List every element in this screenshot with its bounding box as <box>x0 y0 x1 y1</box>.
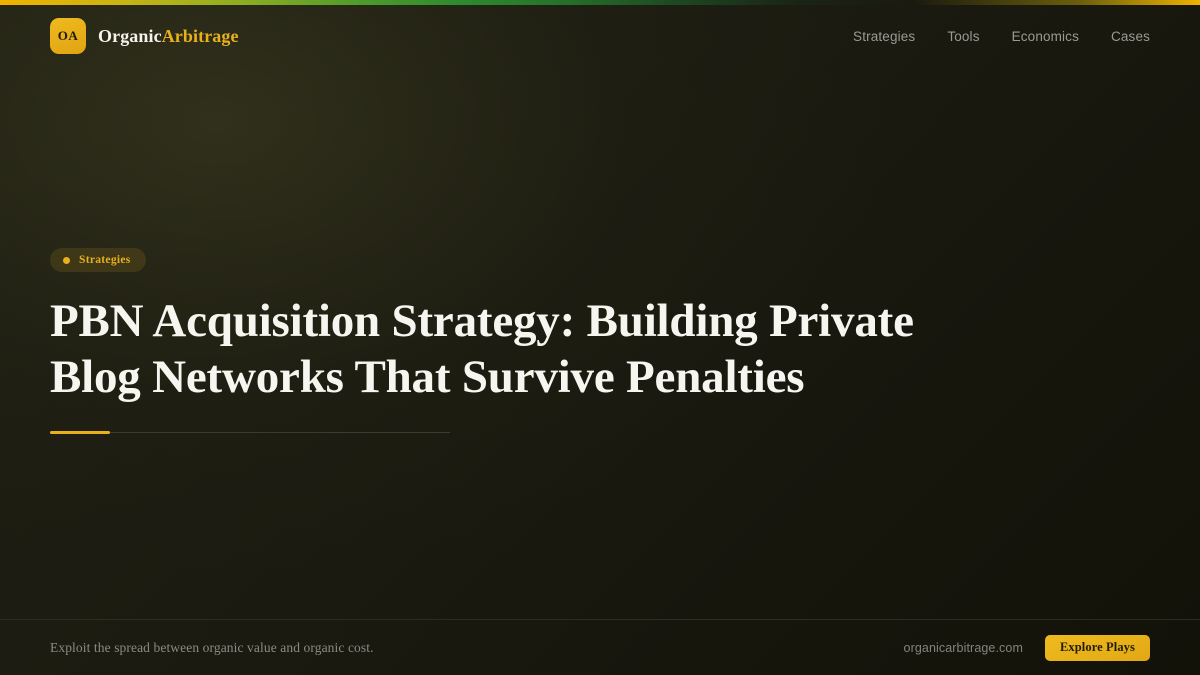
wordmark-primary: Organic <box>98 26 162 46</box>
footer-tagline: Exploit the spread between organic value… <box>50 640 374 656</box>
divider-line <box>50 432 450 433</box>
nav-item-economics[interactable]: Economics <box>1012 29 1079 44</box>
footer-url: organicarbitrage.com <box>904 641 1023 655</box>
title-divider <box>50 431 450 434</box>
divider-accent <box>50 431 110 434</box>
wordmark-accent: Arbitrage <box>162 26 239 46</box>
dot-icon <box>63 257 70 264</box>
nav-item-strategies[interactable]: Strategies <box>853 29 915 44</box>
brand-logo[interactable]: OA OrganicArbitrage <box>50 18 239 54</box>
nav-item-tools[interactable]: Tools <box>947 29 979 44</box>
main-nav: Strategies Tools Economics Cases <box>853 29 1150 44</box>
logo-badge-icon: OA <box>50 18 86 54</box>
category-badge-label: Strategies <box>79 254 131 266</box>
wordmark: OrganicArbitrage <box>98 26 239 47</box>
footer-actions: organicarbitrage.com Explore Plays <box>904 635 1150 661</box>
page-title: PBN Acquisition Strategy: Building Priva… <box>50 293 950 405</box>
explore-plays-button[interactable]: Explore Plays <box>1045 635 1150 661</box>
category-badge[interactable]: Strategies <box>50 248 146 272</box>
nav-item-cases[interactable]: Cases <box>1111 29 1150 44</box>
site-header: OA OrganicArbitrage Strategies Tools Eco… <box>0 5 1200 67</box>
hero-section: Strategies PBN Acquisition Strategy: Bui… <box>50 248 1050 434</box>
site-footer: Exploit the spread between organic value… <box>0 619 1200 675</box>
